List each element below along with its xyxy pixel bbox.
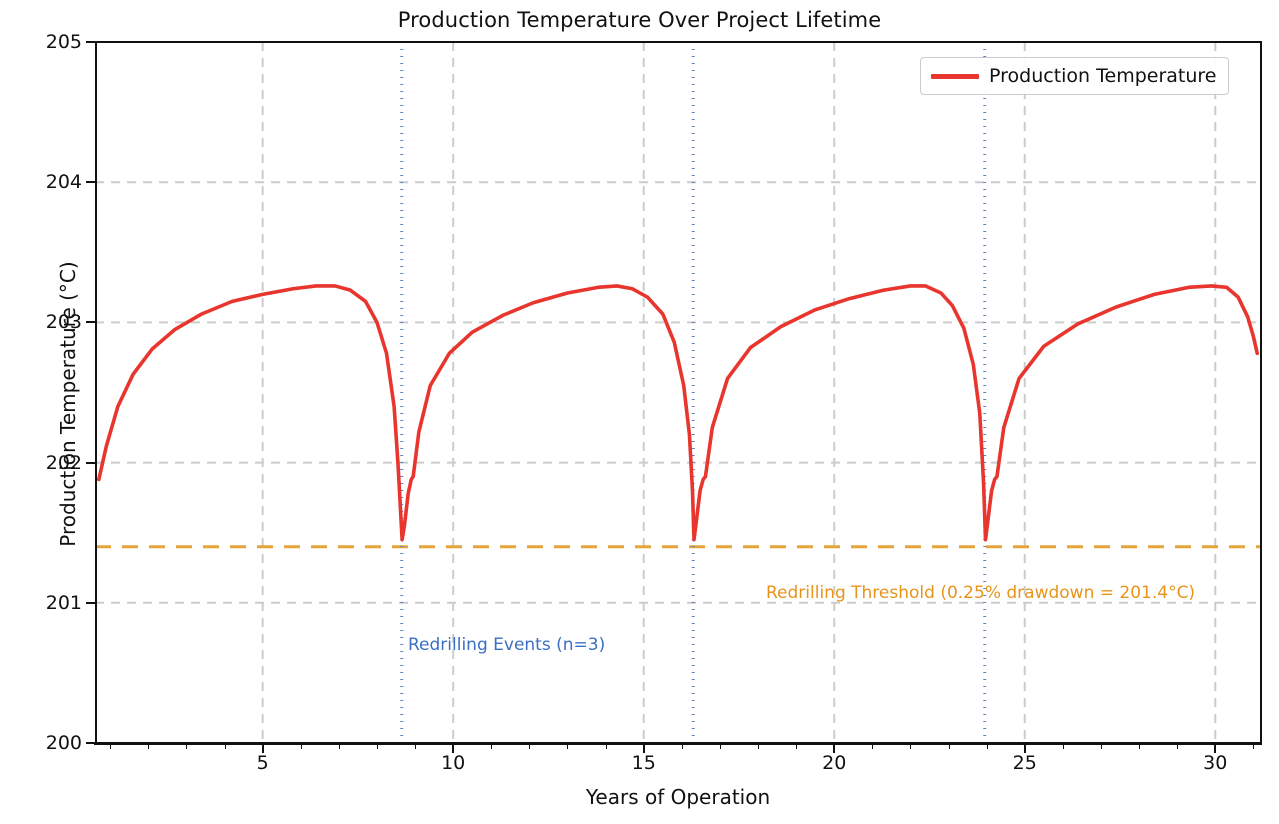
x-tick-mark-minor bbox=[758, 744, 759, 749]
legend-swatch-production-temperature bbox=[931, 74, 979, 79]
y-tick-mark bbox=[86, 181, 95, 183]
x-tick-mark-minor bbox=[110, 744, 111, 749]
legend-label-production-temperature: Production Temperature bbox=[989, 65, 1216, 87]
chart-figure: Production Temperature Over Project Life… bbox=[0, 0, 1279, 824]
x-tick-mark-minor bbox=[567, 744, 568, 749]
y-tick-mark bbox=[86, 462, 95, 464]
series-line-production-temperature bbox=[99, 286, 1257, 540]
x-tick-mark-minor bbox=[720, 744, 721, 749]
x-axis-label: Years of Operation bbox=[95, 785, 1261, 809]
y-tick-mark bbox=[86, 321, 95, 323]
chart-legend[interactable]: Production Temperature bbox=[920, 57, 1229, 95]
x-tick-label: 5 bbox=[257, 752, 269, 774]
x-tick-mark-minor bbox=[377, 744, 378, 749]
x-tick-mark-minor bbox=[1063, 744, 1064, 749]
x-tick-mark-minor bbox=[186, 744, 187, 749]
axis-spine-top bbox=[95, 41, 1262, 43]
x-tick-mark-minor bbox=[1139, 744, 1140, 749]
x-tick-mark-minor bbox=[796, 744, 797, 749]
y-tick-label: 205 bbox=[46, 31, 82, 53]
x-tick-mark-minor bbox=[148, 744, 149, 749]
x-tick-mark-minor bbox=[225, 744, 226, 749]
x-tick-mark-minor bbox=[1101, 744, 1102, 749]
y-tick-mark bbox=[86, 742, 95, 744]
annotation-redrilling-threshold: Redrilling Threshold (0.25% drawdown = 2… bbox=[766, 583, 1195, 603]
annotation-redrilling-events: Redrilling Events (n=3) bbox=[408, 635, 605, 655]
x-tick-mark-minor bbox=[529, 744, 530, 749]
x-tick-mark-minor bbox=[339, 744, 340, 749]
x-tick-mark-minor bbox=[301, 744, 302, 749]
y-axis-label: Production Temperature (°C) bbox=[56, 54, 80, 754]
y-tick-mark bbox=[86, 602, 95, 604]
axis-spine-right bbox=[1260, 41, 1262, 744]
x-tick-mark-minor bbox=[491, 744, 492, 749]
x-tick-label: 15 bbox=[632, 752, 656, 774]
x-tick-label: 10 bbox=[441, 752, 465, 774]
y-tick-mark bbox=[86, 41, 95, 43]
x-tick-mark-minor bbox=[872, 744, 873, 749]
x-tick-mark-minor bbox=[606, 744, 607, 749]
axis-spine-left bbox=[95, 41, 97, 744]
x-tick-label: 20 bbox=[822, 752, 846, 774]
axis-spine-bottom bbox=[94, 742, 1262, 745]
x-tick-mark-minor bbox=[1253, 744, 1254, 749]
x-tick-mark-minor bbox=[682, 744, 683, 749]
x-tick-mark-minor bbox=[415, 744, 416, 749]
x-tick-label: 25 bbox=[1013, 752, 1037, 774]
x-tick-mark-minor bbox=[987, 744, 988, 749]
x-tick-mark-minor bbox=[1177, 744, 1178, 749]
x-tick-mark-minor bbox=[949, 744, 950, 749]
plot-canvas bbox=[0, 0, 1279, 824]
x-tick-label: 30 bbox=[1203, 752, 1227, 774]
x-tick-mark-minor bbox=[910, 744, 911, 749]
